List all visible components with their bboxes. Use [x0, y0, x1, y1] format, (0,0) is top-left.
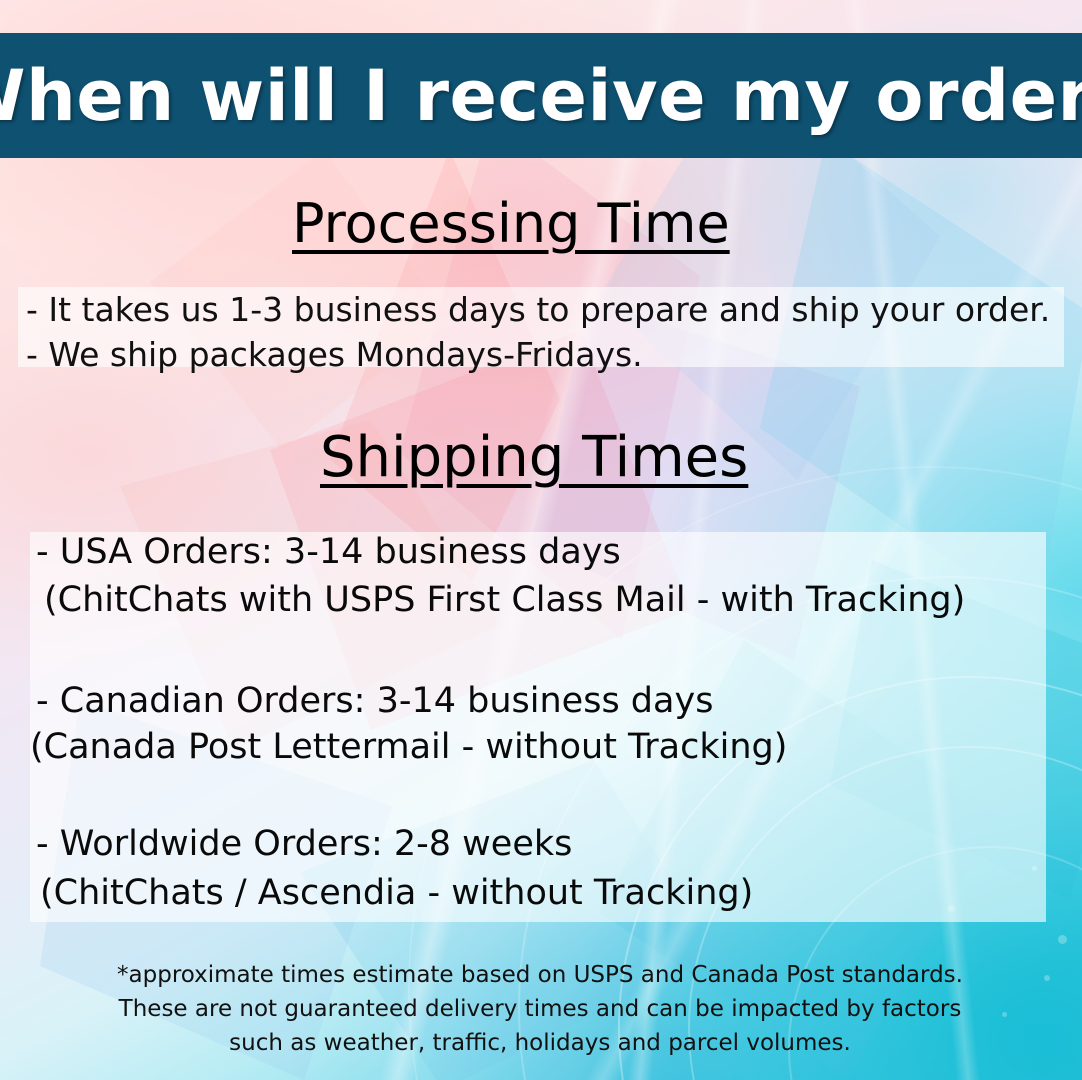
footer-line-3: such as weather, traffic, holidays and p… — [60, 1032, 1020, 1055]
footer-line-2: These are not guaranteed delivery times … — [60, 998, 1020, 1021]
header-banner: When will I receive my order? — [0, 33, 1082, 158]
section-heading-processing-time: Processing Time — [292, 192, 730, 255]
shipping-canada-secondary: (Canada Post Lettermail - without Tracki… — [30, 730, 787, 765]
shipping-usa-secondary: (ChitChats with USPS First Class Mail - … — [44, 583, 965, 618]
processing-time-line-1: - It takes us 1-3 business days to prepa… — [26, 293, 1050, 326]
section-heading-shipping-times: Shipping Times — [320, 425, 748, 490]
footer-disclaimer: *approximate times estimate based on USP… — [60, 958, 1020, 1068]
page-title: When will I receive my order? — [0, 61, 1082, 131]
shipping-worldwide-primary: - Worldwide Orders: 2-8 weeks — [36, 827, 572, 862]
shipping-canada-primary: - Canadian Orders: 3-14 business days — [36, 684, 713, 719]
shipping-worldwide-secondary: (ChitChats / Ascendia - without Tracking… — [40, 876, 753, 911]
footer-line-1: *approximate times estimate based on USP… — [60, 964, 1020, 987]
processing-time-line-2: - We ship packages Mondays-Fridays. — [26, 338, 643, 371]
infographic-canvas: When will I receive my order? Processing… — [0, 0, 1082, 1080]
shipping-usa-primary: - USA Orders: 3-14 business days — [36, 535, 621, 570]
